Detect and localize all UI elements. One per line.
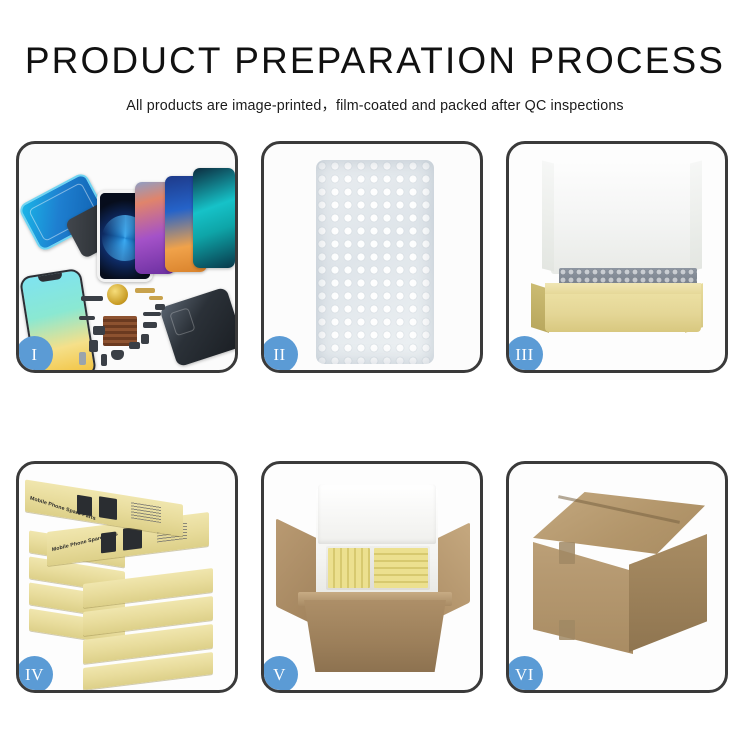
gradient-phone-teal bbox=[193, 168, 235, 268]
process-step-1[interactable]: I bbox=[16, 141, 238, 373]
flex-cable bbox=[149, 296, 163, 300]
yellow-boxes-group bbox=[328, 548, 370, 588]
infographic-page: PRODUCT PREPARATION PROCESS All products… bbox=[0, 0, 750, 750]
process-step-3[interactable]: III bbox=[506, 141, 728, 373]
yellow-boxes-group bbox=[374, 548, 428, 588]
component-chip bbox=[155, 304, 165, 310]
bubble-wrap-bag bbox=[316, 160, 434, 364]
step-1-illustration bbox=[19, 144, 235, 370]
step-badge-1: I bbox=[16, 336, 53, 373]
process-step-4[interactable]: Mobile Phone Spare Parts Mobile Phone Sp… bbox=[16, 461, 238, 693]
flex-cable bbox=[101, 354, 107, 366]
speaker-component bbox=[107, 284, 128, 305]
carton-front bbox=[304, 600, 446, 672]
step-6-illustration bbox=[509, 464, 725, 690]
page-title: PRODUCT PREPARATION PROCESS bbox=[0, 42, 750, 81]
step-4-illustration: Mobile Phone Spare Parts Mobile Phone Sp… bbox=[19, 464, 235, 690]
component-chip bbox=[93, 326, 105, 335]
component-chip bbox=[129, 342, 140, 349]
flex-cable bbox=[143, 312, 161, 316]
page-subtitle: All products are image-printed，film-coat… bbox=[0, 94, 750, 115]
box-label-window bbox=[99, 496, 117, 520]
box-front-panel bbox=[545, 292, 701, 332]
component-chip bbox=[81, 296, 103, 301]
component-chip bbox=[143, 322, 157, 328]
step-badge-4: IV bbox=[16, 656, 53, 693]
step-badge-6: VI bbox=[506, 656, 543, 693]
process-step-5[interactable]: V bbox=[261, 461, 483, 693]
phone-back-housing bbox=[159, 287, 238, 368]
carton-tape-upper bbox=[559, 542, 575, 564]
carton-tape-lower bbox=[559, 620, 575, 640]
component-chip bbox=[111, 350, 124, 360]
foam-cavity bbox=[326, 546, 430, 590]
component-chip bbox=[141, 334, 149, 344]
step-2-illustration bbox=[264, 144, 480, 370]
box-label-specs bbox=[131, 501, 161, 523]
box-label-window bbox=[101, 531, 116, 553]
step-badge-3: III bbox=[506, 336, 543, 373]
process-step-2[interactable]: II bbox=[261, 141, 483, 373]
foam-lid bbox=[318, 484, 436, 544]
component-chip bbox=[89, 340, 98, 352]
step-5-illustration bbox=[264, 464, 480, 690]
process-step-6[interactable]: VI bbox=[506, 461, 728, 693]
step-3-illustration bbox=[509, 144, 725, 370]
flex-cable bbox=[135, 288, 155, 293]
header: PRODUCT PREPARATION PROCESS All products… bbox=[0, 0, 750, 115]
box-label-window bbox=[77, 495, 92, 516]
carton-left-face bbox=[533, 542, 633, 654]
box-lid-foam bbox=[551, 162, 693, 274]
step-badge-2: II bbox=[261, 336, 298, 373]
box-label-window bbox=[123, 526, 142, 550]
step-badge-5: V bbox=[261, 656, 298, 693]
flex-cable bbox=[79, 316, 95, 320]
process-grid: I II III bbox=[16, 141, 738, 697]
component-chip bbox=[79, 352, 86, 365]
